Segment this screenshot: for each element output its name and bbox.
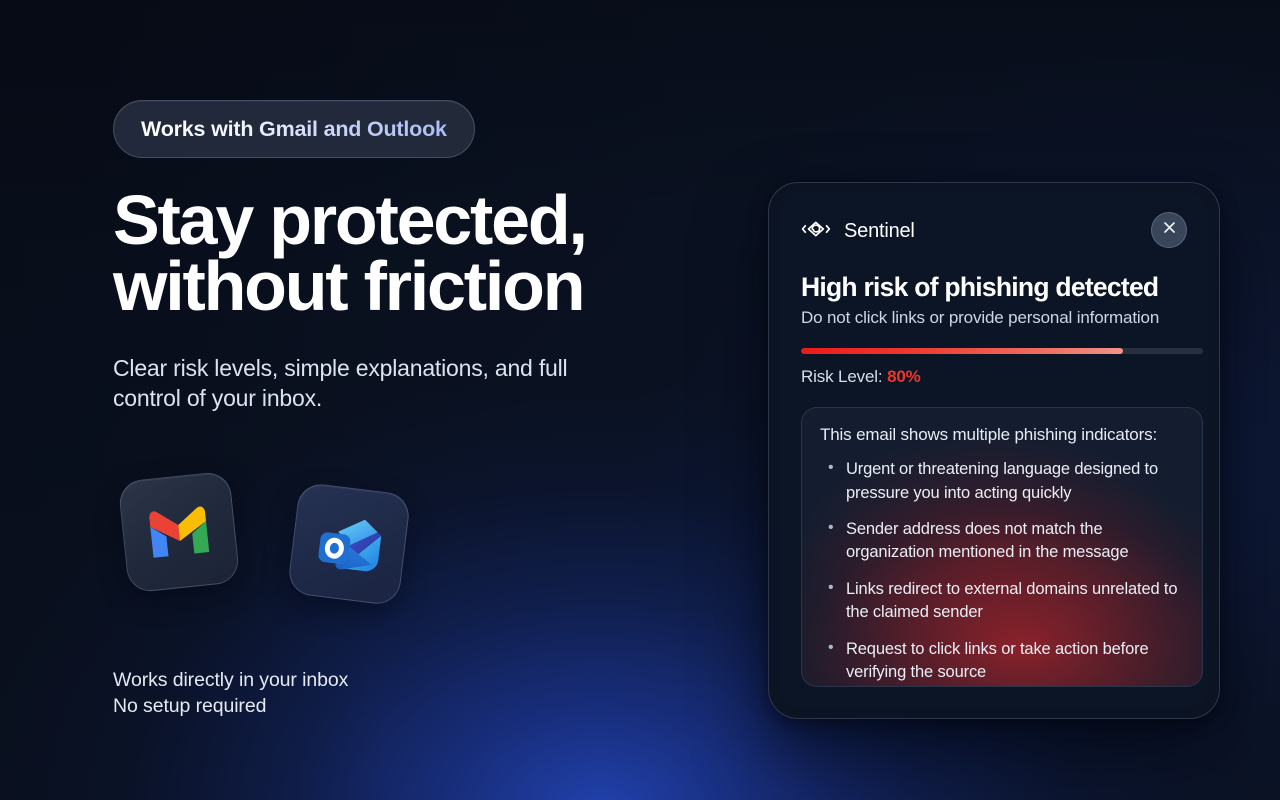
indicators-title: This email shows multiple phishing indic… [820,425,1184,445]
brand: Sentinel [801,218,915,245]
close-button[interactable] [1151,212,1187,248]
indicators-list: Urgent or threatening language designed … [820,458,1184,684]
risk-level-bar [801,348,1203,354]
brand-name: Sentinel [844,220,915,243]
sentinel-logo-icon [801,218,831,245]
gmail-icon [144,504,215,561]
alert-card-header: Sentinel [801,211,1187,251]
indicators-panel: This email shows multiple phishing indic… [801,407,1203,687]
integration-tiles [113,466,453,616]
risk-level-value: 80% [887,367,921,386]
phishing-alert-card: Sentinel High risk of phishing detected … [768,182,1220,719]
hero-footnote: Works directly in your inbox No setup re… [113,668,348,719]
risk-level-label: Risk Level: 80% [801,367,1187,387]
hero-section: Works with Gmail and Outlook Stay protec… [113,100,713,413]
hero-subheading: Clear risk levels, simple explanations, … [113,353,713,414]
outlook-icon [310,509,387,579]
risk-level-label-prefix: Risk Level: [801,367,883,386]
indicator-item: Urgent or threatening language designed … [820,458,1184,505]
alert-title: High risk of phishing detected [801,273,1187,302]
alert-subtitle: Do not click links or provide personal i… [801,308,1187,328]
indicator-item: Sender address does not match the organi… [820,518,1184,565]
integrations-badge: Works with Gmail and Outlook [113,100,475,158]
gmail-tile[interactable] [117,470,240,593]
integrations-badge-label: Works with Gmail and Outlook [141,117,447,142]
page-title: Stay protected, without friction [113,188,713,320]
page-root: Works with Gmail and Outlook Stay protec… [0,0,1280,800]
close-icon [1162,220,1177,240]
alert-card-inner: Sentinel High risk of phishing detected … [779,193,1209,708]
indicator-item: Request to click links or take action be… [820,638,1184,685]
outlook-tile[interactable] [287,482,412,607]
risk-level-bar-fill [801,348,1123,354]
indicator-item: Links redirect to external domains unrel… [820,578,1184,625]
